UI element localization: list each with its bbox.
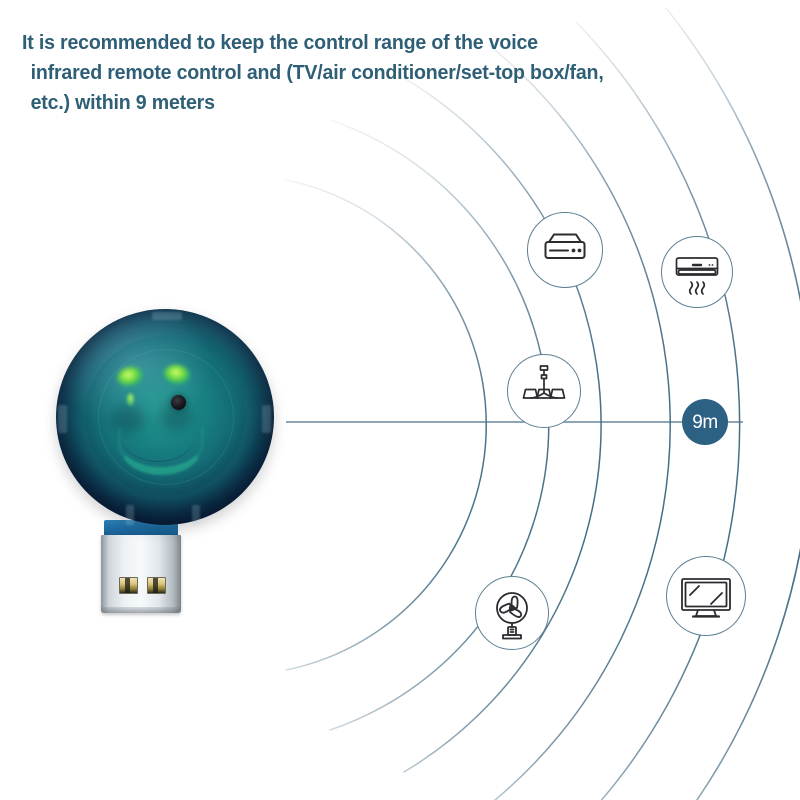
- dome-notch: [126, 505, 134, 525]
- usb-a-connector: [101, 520, 181, 616]
- dome-notch: [192, 505, 200, 525]
- dome-notch: [262, 405, 271, 433]
- range-diagram-scene: It is recommended to keep the control ra…: [0, 0, 800, 800]
- signal-arc-6: [666, 8, 800, 800]
- signal-arc-1: [286, 180, 486, 670]
- range-badge-label: 9m: [692, 413, 717, 432]
- air-conditioner-icon: [662, 237, 732, 307]
- set-top-box-icon: [528, 213, 602, 287]
- device-bubble-set-top-box[interactable]: [527, 212, 603, 288]
- usb-metal-shell: [101, 535, 181, 613]
- chandelier-icon: [508, 355, 580, 427]
- usb-contact-pad: [147, 577, 166, 594]
- led-small-icon: [126, 393, 135, 406]
- device-bubble-air-conditioner[interactable]: [661, 236, 733, 308]
- device-bubble-tv[interactable]: [666, 556, 746, 636]
- usb-ir-dongle: [52, 305, 282, 620]
- tv-icon: [667, 557, 745, 635]
- fan-icon: [476, 577, 548, 649]
- range-badge-9m: 9m: [682, 399, 728, 445]
- usb-contact-pad: [119, 577, 138, 594]
- smiley-face-dome: [56, 309, 274, 525]
- device-bubble-fan[interactable]: [475, 576, 549, 650]
- device-bubble-chandelier[interactable]: [507, 354, 581, 428]
- dome-notch: [152, 312, 182, 320]
- dome-notch: [58, 405, 67, 433]
- ir-sensor-dot-icon: [171, 395, 186, 410]
